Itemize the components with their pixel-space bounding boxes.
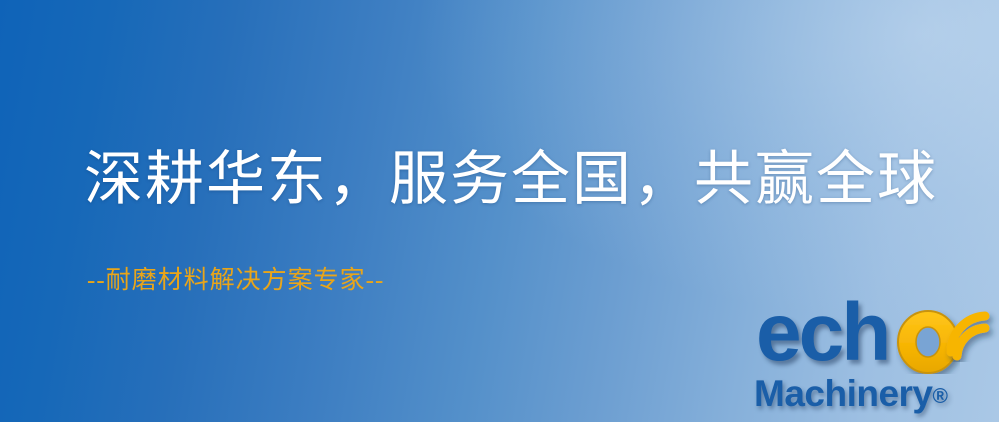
logo-text-ech: ech [756,292,888,374]
promotional-banner: 深耕华东，服务全国，共赢全球 --耐磨材料解决方案专家-- ech [0,0,999,422]
echo-signal-waves-icon [937,290,999,362]
registered-trademark-icon: ® [933,385,948,408]
echo-machinery-logo: ech [744,296,999,422]
logo-brand-line: Machinery® [754,374,948,417]
banner-headline: 深耕华东，服务全国，共赢全球 [84,150,944,209]
banner-subtitle: --耐磨材料解决方案专家-- [87,268,384,293]
logo-brand-text: Machinery [754,373,933,414]
logo-wordmark: ech [752,296,999,376]
